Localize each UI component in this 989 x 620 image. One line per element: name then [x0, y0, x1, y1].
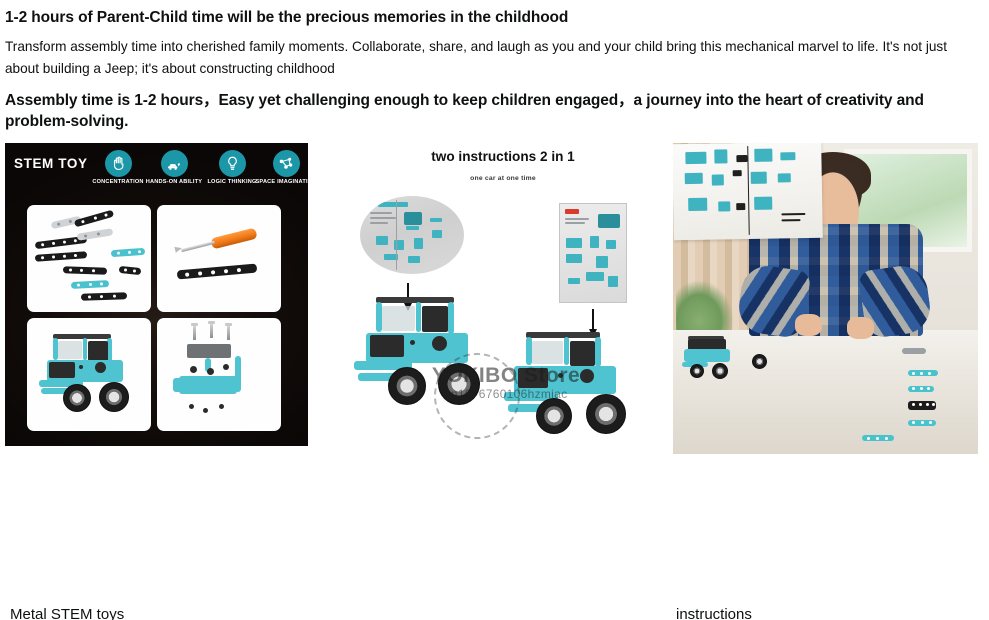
photo-assembled-jeep [27, 318, 151, 431]
screw [193, 324, 196, 340]
column-three: Our off-road vehicle assembly toy is the… [673, 143, 978, 454]
screw [210, 322, 213, 338]
instructions-image: two instructions 2 in 1 one car at one t… [338, 143, 668, 446]
photo-part-strip [862, 435, 894, 441]
screwdriver-handle [210, 228, 257, 250]
instructions-title: two instructions 2 in 1 [338, 149, 668, 164]
feature-label: LOGIC THINKING [201, 179, 263, 186]
instructions-subtitle: one car at one time [338, 175, 668, 182]
child-playing-photo [673, 143, 978, 454]
feature-label: SPACE IMAGINATION [255, 179, 308, 186]
instruction-sheet-oval [360, 196, 464, 274]
screwdriver-shaft [181, 241, 215, 252]
feature-label: CONCENTRATION [87, 179, 149, 186]
feature-space-imagination: SPACE IMAGINATION [255, 150, 308, 186]
assembled-jeep-right [500, 328, 650, 446]
photo-metal-strips [27, 205, 151, 312]
photo-boy-right-hand [847, 317, 874, 339]
hand-icon [105, 150, 132, 177]
page-headline: 1-2 hours of Parent-Child time will be t… [5, 8, 965, 27]
hand-with-car-icon [161, 150, 188, 177]
photo-boy-left-hand [795, 314, 822, 336]
stem-feature-bar: STEM TOY CONCENTRATION [5, 147, 308, 201]
caption-title: instructions [676, 605, 989, 620]
photo-wrench-part [902, 348, 926, 354]
metal-plate [187, 344, 231, 358]
photo-part-strip [908, 370, 938, 376]
feature-logic-thinking: LOGIC THINKING [201, 150, 263, 186]
caption-block-two: instructions Two instructions for two sh… [676, 605, 989, 620]
stem-toy-board-image: STEM TOY CONCENTRATION [5, 143, 308, 446]
network-nodes-icon [273, 150, 300, 177]
feature-concentration: CONCENTRATION [87, 150, 149, 186]
intro-paragraph: Transform assembly time into cherished f… [5, 36, 981, 80]
photo-partial-assembly [157, 318, 281, 431]
feature-hands-on-ability: HANDS-ON ABILITY [143, 150, 205, 186]
photo-part-strip [908, 401, 936, 410]
photo-part-strip [908, 420, 936, 426]
caption-block-one: Metal STEM toys It's a creative way to b… [10, 605, 330, 620]
feature-label: HANDS-ON ABILITY [143, 179, 205, 186]
product-description-page: 1-2 hours of Parent-Child time will be t… [0, 0, 989, 620]
stem-toy-logo: STEM TOY [14, 156, 88, 171]
assembly-time-subheadline: Assembly time is 1-2 hours，Easy yet chal… [5, 90, 955, 132]
instruction-sheet-rect [559, 203, 627, 303]
caption-title: Metal STEM toys [10, 605, 330, 620]
column-two: two instructions 2 in 1 one car at one t… [338, 143, 668, 446]
photo-instruction-booklet [673, 143, 823, 241]
photo-toy-car [682, 336, 749, 392]
screw [227, 324, 230, 340]
photo-part-strip [908, 386, 934, 392]
lightbulb-icon [219, 150, 246, 177]
column-one: STEM TOY CONCENTRATION [5, 143, 308, 446]
metal-strip [177, 264, 257, 280]
photo-screwdriver [157, 205, 281, 312]
